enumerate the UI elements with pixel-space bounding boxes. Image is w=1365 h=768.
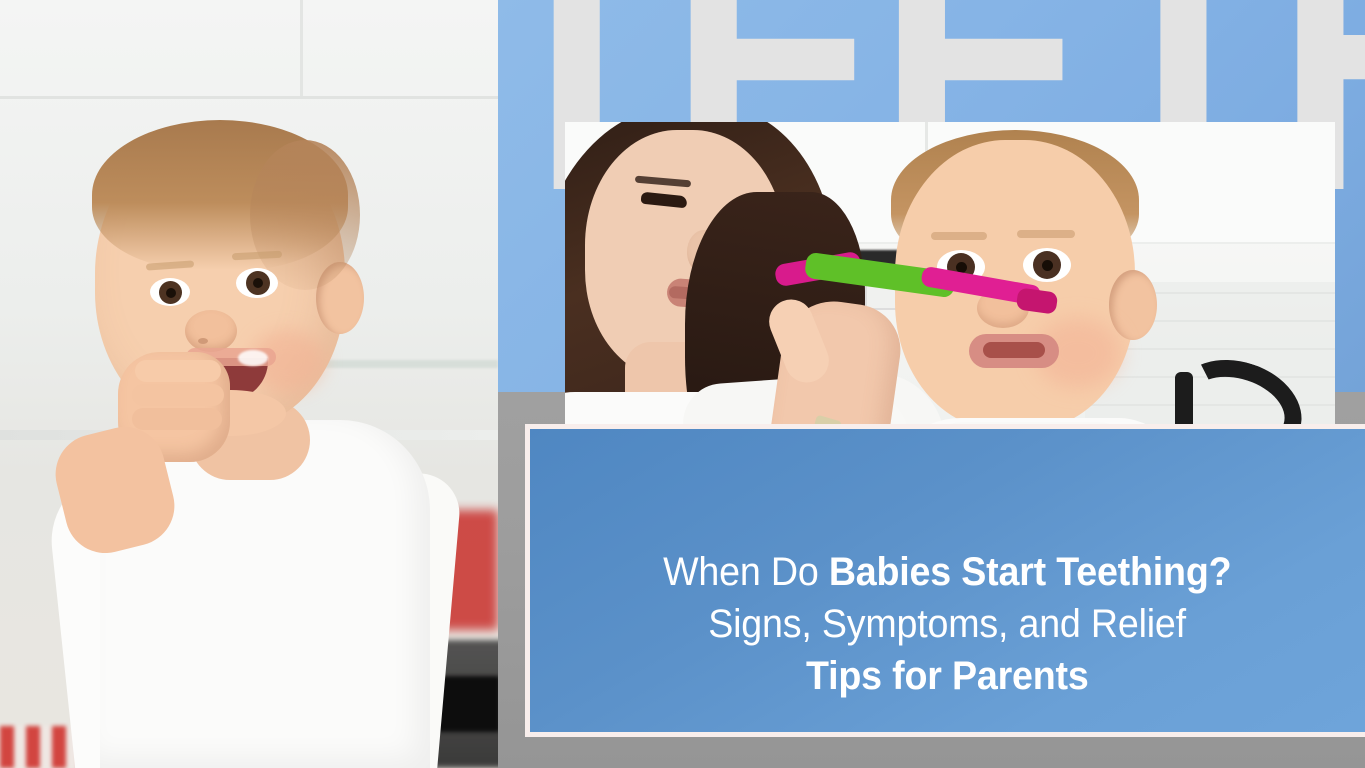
inset-baby-pupil-right [1042,260,1053,271]
hero-baby-hair-side [250,140,360,290]
title-line-1-regular: When Do [663,550,829,594]
hero-photo [0,0,498,768]
poster-canvas: TEETHING [0,0,1365,768]
hero-cabinet-edge [0,96,498,99]
hero-baby-nose [185,310,237,352]
inset-baby-brow-right [1017,230,1075,238]
hero-baby-nostril [198,338,208,344]
inset-baby-mouth-inner [983,342,1045,358]
hero-baby-pupil-left [166,288,176,298]
hero-glass-shelf [300,360,498,368]
inset-baby-brow-left [931,232,987,240]
hero-baby-finger-3 [132,408,222,430]
hero-baby-finger-1 [135,360,221,382]
hero-baby-drool [238,350,268,366]
hero-baby-pupil-right [253,278,263,288]
title-line-1-bold: Babies Start Teething? [829,550,1232,594]
title-line-2: Signs, Symptoms, and Relief [709,598,1187,650]
hero-cabinet-divider [300,0,303,96]
inset-baby-ear [1109,270,1157,340]
title-block: When Do Babies Start Teething? Signs, Sy… [530,429,1365,732]
hero-baby-finger-2 [132,384,224,406]
title-line-1: When Do Babies Start Teething? [663,546,1231,598]
title-line-3: Tips for Parents [806,650,1089,702]
